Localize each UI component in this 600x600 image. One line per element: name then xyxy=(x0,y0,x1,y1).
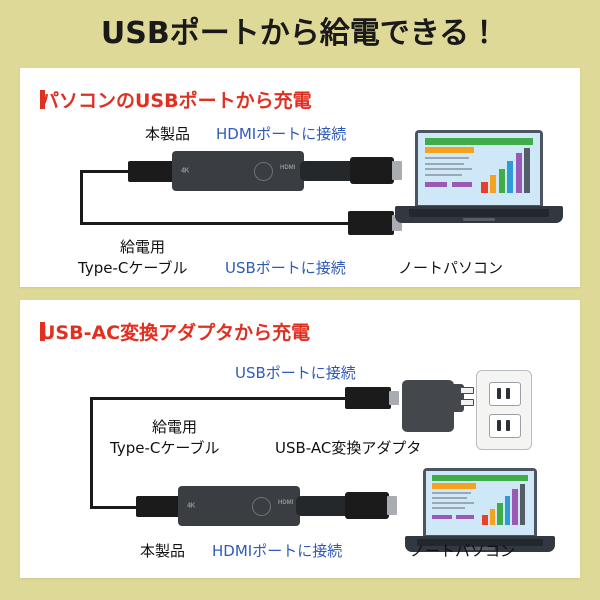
usb-a-plug-1 xyxy=(348,211,394,235)
screen-purple-block xyxy=(456,515,473,519)
cable-segment-vertical xyxy=(80,172,83,225)
label-cable-line2-1: Type-Cケーブル xyxy=(78,257,187,278)
screen-chart-bar xyxy=(516,153,522,193)
section-heading-2-text: USB-AC変換アダプタから充電 xyxy=(40,322,310,344)
cable-segment-top-2 xyxy=(90,397,350,400)
product-button-1 xyxy=(254,162,273,181)
section-card-usb-ac: USB-AC変換アダプタから充電 USBポートに接続 xyxy=(20,300,580,578)
screen-purple-block xyxy=(425,182,447,187)
label-cable-line1-1: 給電用 xyxy=(120,236,165,257)
hdmi-plug-2 xyxy=(345,492,389,519)
wall-outlet xyxy=(476,370,532,450)
label-laptop-1: ノートパソコン xyxy=(398,257,503,278)
cable-segment-top xyxy=(80,170,130,173)
screen-purple-block xyxy=(452,182,472,187)
screen-chart-bar xyxy=(507,161,513,193)
infographic-page: USBポートから給電できる！ パソコンのUSBポートから充電 本製品 HDMIポ… xyxy=(0,0,600,600)
screen-text-line xyxy=(432,497,467,499)
laptop-illustration-1 xyxy=(395,130,563,235)
ac-adapter-body xyxy=(402,380,454,432)
outlet-slot xyxy=(497,388,501,399)
screen-header-bar xyxy=(425,138,532,144)
cable-segment-horizontal xyxy=(80,222,352,225)
screen-text-line xyxy=(425,163,464,165)
cable-segment-bottom-2 xyxy=(90,506,138,509)
section-card-pc-usb: パソコンのUSBポートから充電 本製品 HDMIポートに接続 4K HDMI xyxy=(20,68,580,287)
product-logo-2: 4K xyxy=(187,503,195,510)
screen-text-line xyxy=(425,168,471,170)
usb-c-plug-1 xyxy=(128,161,174,182)
outlet-socket-upper xyxy=(489,382,521,406)
screen-text-line xyxy=(432,492,471,494)
screen-chart-bar xyxy=(490,509,495,525)
laptop-lid xyxy=(415,130,543,208)
product-dongle-1: 4K HDMI xyxy=(172,151,304,191)
heading-accent-bar xyxy=(40,322,45,341)
outlet-slot xyxy=(506,420,510,431)
label-laptop-2: ノートパソコン xyxy=(410,540,515,561)
screen-orange-block xyxy=(425,147,474,153)
plug-tip xyxy=(389,391,399,405)
screen-chart-bar xyxy=(520,484,525,524)
screen-chart-bar xyxy=(499,169,505,193)
screen-chart-bar xyxy=(481,182,487,194)
section-heading-1-text: パソコンのUSBポートから充電 xyxy=(40,90,312,112)
label-usb-connect-1: USBポートに接続 xyxy=(225,257,346,278)
outlet-socket-lower xyxy=(489,414,521,438)
usb-a-plug-2 xyxy=(345,387,391,409)
page-title: USBポートから給電できる！ xyxy=(0,8,600,52)
hdmi-cable-2 xyxy=(296,496,352,516)
cable-segment-left-2 xyxy=(90,397,93,509)
product-indicator-2: HDMI xyxy=(278,500,293,507)
heading-accent-bar xyxy=(40,90,45,109)
screen-text-line xyxy=(425,174,462,176)
screen-text-line xyxy=(425,157,469,159)
label-hdmi-connect-1: HDMIポートに接続 xyxy=(216,123,346,144)
screen-chart-bar xyxy=(482,515,487,525)
laptop-trackpad xyxy=(463,218,495,221)
outlet-slot xyxy=(497,420,501,431)
plug-tip xyxy=(387,496,397,515)
laptop-lid xyxy=(423,468,537,538)
screen-text-line xyxy=(432,502,473,504)
product-logo-1: 4K xyxy=(181,168,189,175)
laptop-base xyxy=(395,206,563,223)
screen-chart-bar xyxy=(505,496,510,525)
screen-chart-bar xyxy=(524,148,530,193)
label-product-2: 本製品 xyxy=(140,540,185,561)
label-product-1: 本製品 xyxy=(145,123,190,144)
label-ac-adapter-2: USB-AC変換アダプタ xyxy=(275,437,421,458)
label-cable-line2-2: Type-Cケーブル xyxy=(110,437,219,458)
screen-chart-bar xyxy=(512,489,517,525)
section-heading-2: USB-AC変換アダプタから充電 xyxy=(40,318,310,345)
laptop-keyboard xyxy=(409,209,549,217)
product-indicator-1: HDMI xyxy=(280,165,295,172)
laptop-screen xyxy=(418,133,540,205)
screen-text-line xyxy=(432,507,464,509)
product-button-2 xyxy=(252,497,271,516)
section-heading-1: パソコンのUSBポートから充電 xyxy=(40,86,312,113)
screen-purple-block xyxy=(432,515,451,519)
laptop-screen xyxy=(426,471,534,535)
ac-prong-upper xyxy=(460,387,474,394)
label-hdmi-connect-2: HDMIポートに接続 xyxy=(212,540,342,561)
product-dongle-2: 4K HDMI xyxy=(178,486,300,526)
screen-chart-bar xyxy=(490,175,496,193)
screen-header-bar xyxy=(432,475,527,481)
screen-chart-bar xyxy=(497,503,502,525)
screen-orange-block xyxy=(432,483,475,489)
label-usb-connect-2: USBポートに接続 xyxy=(235,362,356,383)
hdmi-plug-1 xyxy=(350,157,394,184)
usb-c-plug-2 xyxy=(136,496,180,517)
label-cable-line1-2: 給電用 xyxy=(152,416,197,437)
ac-prong-lower xyxy=(460,399,474,406)
outlet-slot xyxy=(506,388,510,399)
